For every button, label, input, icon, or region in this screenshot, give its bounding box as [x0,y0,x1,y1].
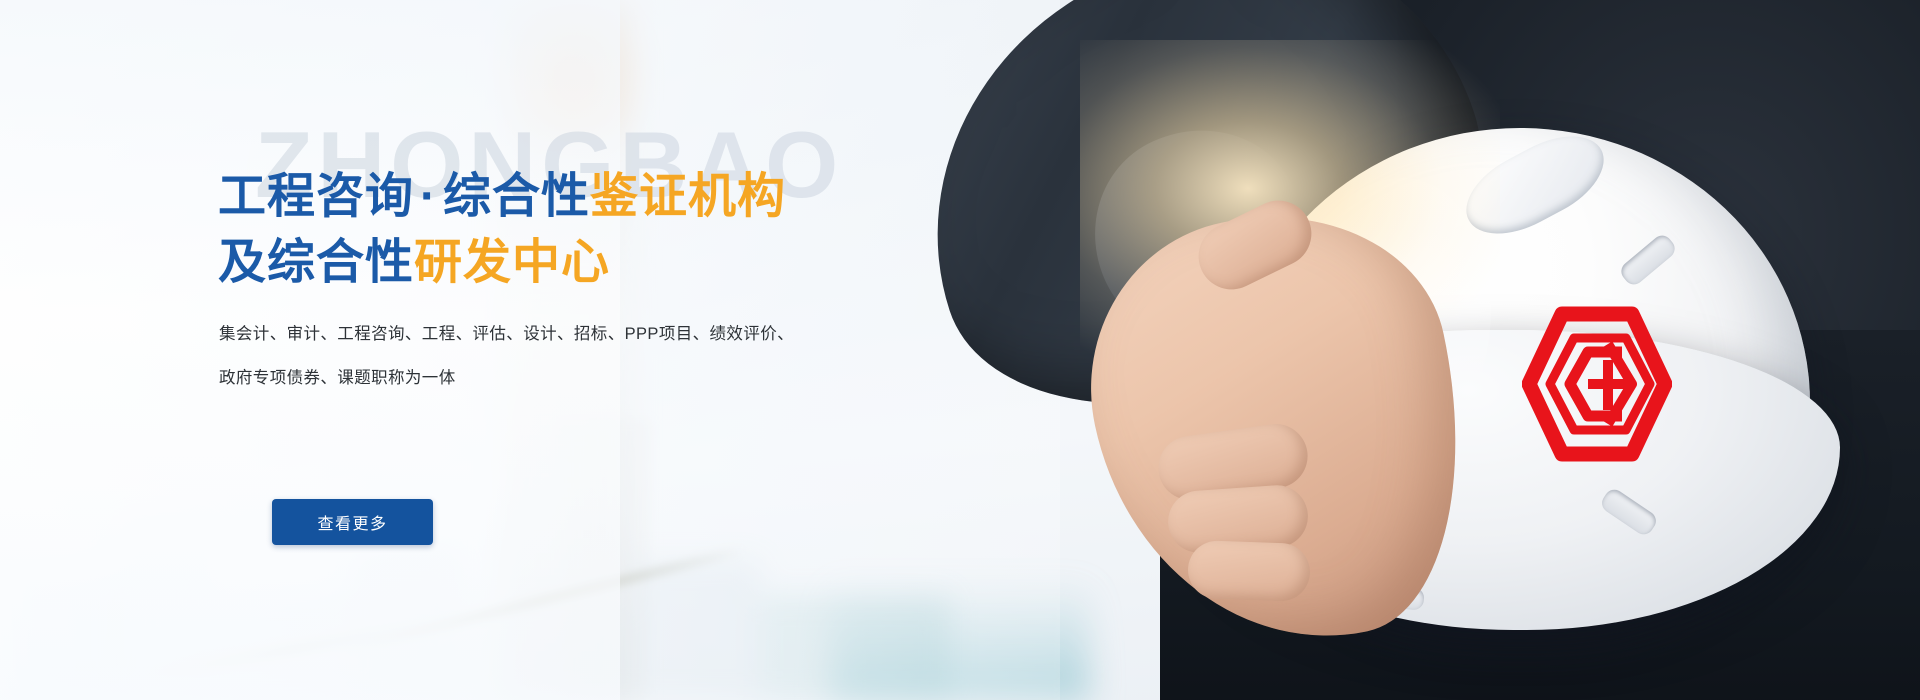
headline-highlight: 鉴证机构 [590,170,786,223]
zhongbao-hexagon-logo-icon [1522,300,1672,468]
hero-headline: 工程咨询·综合性鉴证机构 及综合性研发中心 [218,164,786,296]
headline-text: 工程咨询 [218,170,414,223]
headline-text: 综合性 [443,170,590,223]
hero-content: ZHONGBAO 工程咨询·综合性鉴证机构 及综合性研发中心 集会计、审计、工程… [0,0,1000,700]
hero-banner: 中 宝 工 程 管 理 [0,0,1920,700]
description-line-2: 政府专项债券、课题职称为一体 [219,356,794,400]
photo-arm-holding-helmet: 中 宝 工 程 管 理 [900,0,1920,700]
hero-description: 集会计、审计、工程咨询、工程、评估、设计、招标、PPP项目、绩效评价、 政府专项… [219,312,794,400]
headline-line-2: 及综合性研发中心 [218,230,786,296]
finger [1187,540,1311,602]
headline-separator: · [414,170,443,223]
view-more-button[interactable]: 查看更多 [272,499,433,545]
headline-line-1: 工程咨询·综合性鉴证机构 [218,164,786,230]
headline-text: 及综合性 [218,236,414,289]
headline-highlight: 研发中心 [414,236,610,289]
description-line-1: 集会计、审计、工程咨询、工程、评估、设计、招标、PPP项目、绩效评价、 [219,312,794,356]
